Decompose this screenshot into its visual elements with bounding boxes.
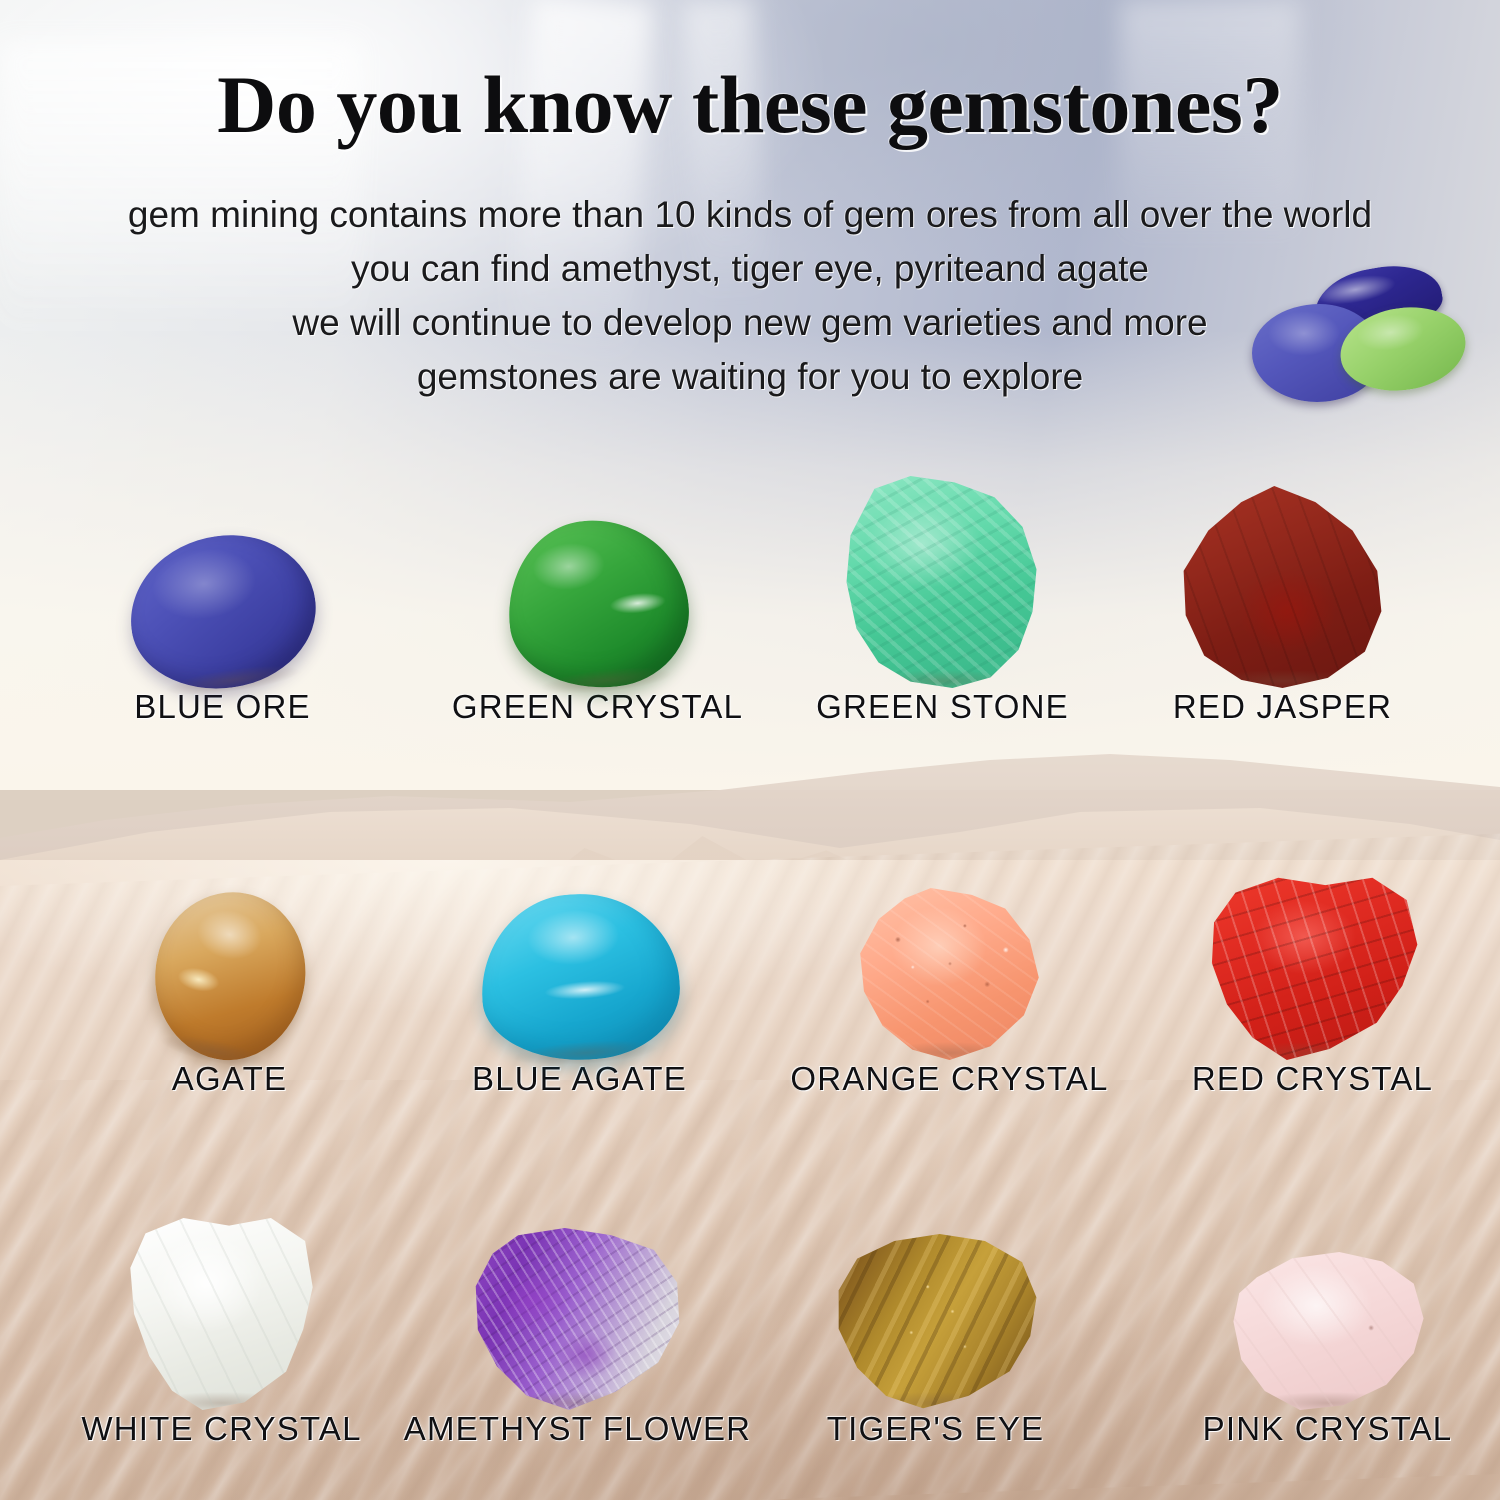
agate-gem-icon <box>139 878 321 1074</box>
gem-label: AGATE <box>42 1060 417 1098</box>
blue-agate-gem-icon <box>475 887 684 1066</box>
orange-crystal-gem-icon <box>857 888 1043 1060</box>
gem-label: TIGER'S EYE <box>748 1410 1123 1448</box>
gem-cell-green-stone[interactable]: GREEN STONE <box>755 448 1130 726</box>
gem-label: PINK CRYSTAL <box>1140 1410 1500 1448</box>
blue-ore-gem-icon <box>120 524 325 700</box>
gem-image-wrap <box>42 820 417 1060</box>
gemstone-poster: Do you know these gemstones? gem mining … <box>0 0 1500 1500</box>
gem-label: GREEN CRYSTAL <box>410 688 785 726</box>
gem-label: RED JASPER <box>1095 688 1470 726</box>
gem-label: AMETHYST FLOWER <box>390 1410 765 1448</box>
amethyst-flower-gem-icon <box>472 1228 684 1410</box>
gem-cell-agate[interactable]: AGATE <box>42 820 417 1098</box>
pink-crystal-gem-icon <box>1230 1252 1426 1410</box>
gem-image-wrap <box>762 820 1137 1060</box>
gem-image-wrap <box>1095 448 1470 688</box>
gem-image-wrap <box>410 448 785 688</box>
gem-cell-blue-agate[interactable]: BLUE AGATE <box>392 820 767 1098</box>
tigers-eye-gem-icon <box>833 1234 1039 1410</box>
gem-label: RED CRYSTAL <box>1125 1060 1500 1098</box>
gem-image-wrap <box>755 448 1130 688</box>
gem-cell-pink-crystal[interactable]: PINK CRYSTAL <box>1140 1170 1500 1448</box>
gem-cell-orange-crystal[interactable]: ORANGE CRYSTAL <box>762 820 1137 1098</box>
green-crystal-gem-icon <box>499 511 696 697</box>
green-stone-gem-icon <box>843 476 1043 688</box>
gem-cell-red-crystal[interactable]: RED CRYSTAL <box>1125 820 1500 1098</box>
red-crystal-gem-icon <box>1206 874 1420 1060</box>
gem-image-wrap <box>392 820 767 1060</box>
gem-grid: BLUE ORE GREEN CRYSTAL GREEN STONE RED J… <box>0 0 1500 1500</box>
gem-cell-white-crystal[interactable]: WHITE CRYSTAL <box>34 1170 409 1448</box>
gem-label: ORANGE CRYSTAL <box>762 1060 1137 1098</box>
gem-cell-amethyst-flower[interactable]: AMETHYST FLOWER <box>390 1170 765 1448</box>
gem-label: GREEN STONE <box>755 688 1130 726</box>
gem-image-wrap <box>34 1170 409 1410</box>
red-jasper-gem-icon <box>1180 486 1386 688</box>
gem-cell-green-crystal[interactable]: GREEN CRYSTAL <box>410 448 785 726</box>
gem-image-wrap <box>1140 1170 1500 1410</box>
gem-image-wrap <box>748 1170 1123 1410</box>
gem-label: BLUE AGATE <box>392 1060 767 1098</box>
white-crystal-gem-icon <box>127 1218 317 1410</box>
gem-label: BLUE ORE <box>35 688 410 726</box>
gem-image-wrap <box>390 1170 765 1410</box>
gem-image-wrap <box>1125 820 1500 1060</box>
gem-label: WHITE CRYSTAL <box>34 1410 409 1448</box>
gem-image-wrap <box>35 448 410 688</box>
gem-cell-tigers-eye[interactable]: TIGER'S EYE <box>748 1170 1123 1448</box>
gem-cell-blue-ore[interactable]: BLUE ORE <box>35 448 410 726</box>
gem-cell-red-jasper[interactable]: RED JASPER <box>1095 448 1470 726</box>
